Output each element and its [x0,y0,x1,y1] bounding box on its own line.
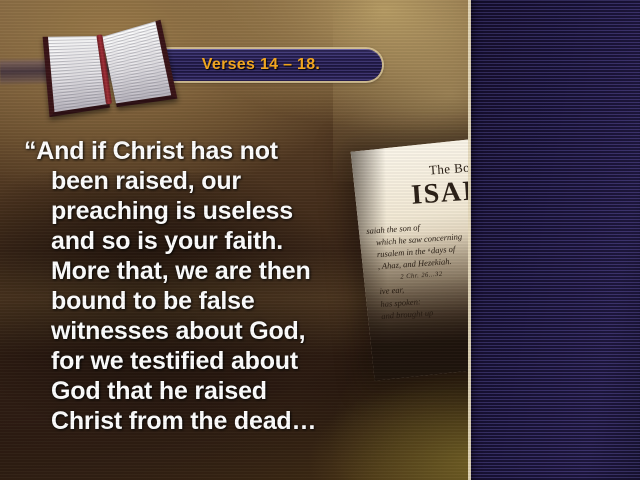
title-banner: Verses 14 – 18. [140,49,382,81]
quote-line: preaching is useless [24,196,384,226]
quote-line: been raised, our [24,166,384,196]
quote-line: God that he raised [24,376,384,406]
quote-line: bound to be false [24,286,384,316]
open-bible-icon [42,24,173,112]
quote-line: witnesses about God, [24,316,384,346]
navy-side-panel [470,0,640,480]
quote-line: and so is your faith. [24,226,384,256]
title-banner-label: Verses 14 – 18. [202,56,320,74]
navy-panel-gold-edge [468,0,640,480]
quote-line: More that, we are then [24,256,384,286]
quote-line: Christ from the dead… [24,406,384,436]
quote-text-block: “And if Christ has not been raised, our … [24,136,384,436]
presentation-slide: The Book of ISAIAH saiah the son of whic… [0,0,640,480]
quote-line: for we testified about [24,346,384,376]
quote-line: “And if Christ has not [24,136,384,166]
